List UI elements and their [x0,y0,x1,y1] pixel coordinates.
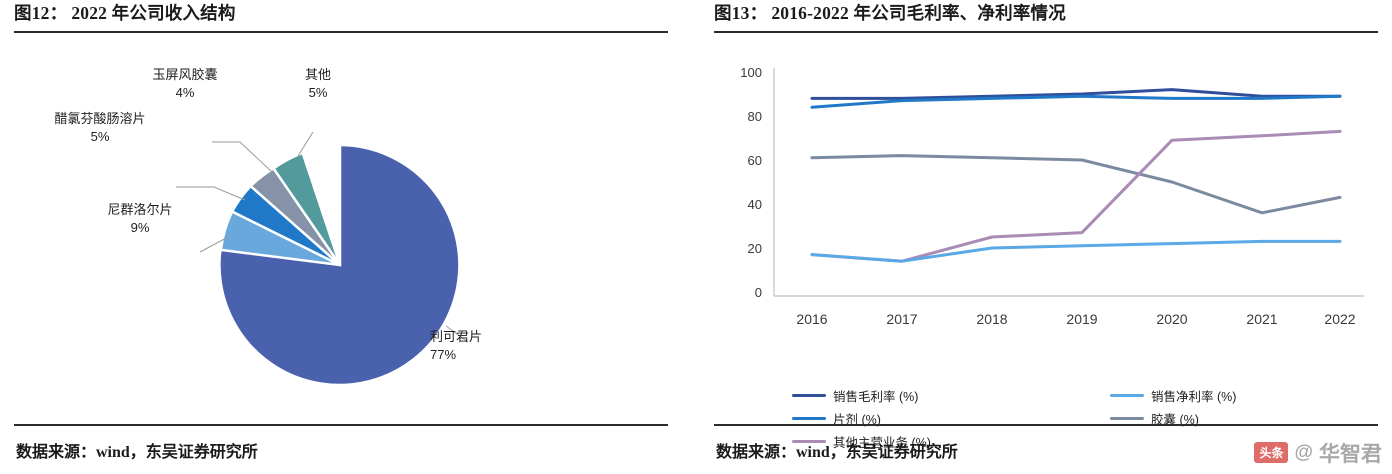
series-line-jiaonang [812,156,1340,213]
right-chart-title: 图13：2016-2022 年公司毛利率、净利率情况 [714,0,1378,31]
left-source-text: 数据来源：wind，东吴证券研究所 [16,438,258,462]
watermark-at: @ [1294,442,1313,464]
ytick-0: 0 [755,285,762,300]
xtick-2019: 2019 [1066,311,1097,327]
line-chart-area: 100 80 60 40 20 0 2016 2017 2018 2019 20… [700,42,1392,342]
line-series-group [812,90,1340,262]
pie-label-culufensuanchangrongpian: 醋氯芬酸肠溶片 5% [24,110,176,145]
right-title-line: 图13：2016-2022 年公司毛利率、净利率情况 [714,0,1378,25]
ytick-40: 40 [748,197,762,212]
xtick-2018: 2018 [976,311,1007,327]
pie-value-qita: 5% [288,84,348,102]
legend-label-jinglilv: 销售净利率 (%) [1151,386,1236,405]
pie-value-yupingfengjiaonang: 4% [118,84,252,102]
xtick-2021: 2021 [1246,311,1277,327]
ytick-20: 20 [748,241,762,256]
leader-line-qita [298,132,313,156]
legend-swatch-maolilv [792,394,826,397]
left-title-text: 2022 年公司收入结构 [71,3,235,23]
ytick-80: 80 [748,109,762,124]
leader-line-culufensuanchangrongpian [176,187,245,200]
legend-swatch-jinglilv [1110,394,1144,397]
legend-item-jinglilv[interactable]: 销售净利率 (%) [1110,386,1236,405]
panel-pie-chart: 图12：2022 年公司收入结构 [0,0,682,474]
left-title-line: 图12：2022 年公司收入结构 [14,0,668,25]
pie-label-qita: 其他 5% [288,66,348,101]
x-axis-ticklabels: 2016 2017 2018 2019 2020 2021 2022 [796,311,1355,327]
left-title-number: 图12： [14,3,67,23]
legend-row-1: 销售毛利率 (%) 销售净利率 (%) [720,386,1376,409]
pie-slices [219,145,459,385]
pie-chart-area: 利可君片 77% 尼群洛尔片 9% 醋氯芬酸肠溶片 5% 玉屏风胶囊 4% 其他… [0,40,682,390]
xtick-2022: 2022 [1324,311,1355,327]
xtick-2020: 2020 [1156,311,1187,327]
page-root: 图12：2022 年公司收入结构 [0,0,1392,474]
right-title-number: 图13： [714,3,767,23]
left-footer-rule [14,424,668,426]
legend-label-maolilv: 销售毛利率 (%) [833,386,918,405]
ytick-100: 100 [740,65,762,80]
right-footer-rule [714,424,1378,426]
left-title-rule [14,31,668,33]
watermark-badge: 头条 [1254,442,1288,463]
series-line-jinglilv [812,241,1340,261]
pie-value-niqunluoerpian: 9% [80,219,200,237]
left-chart-title: 图12：2022 年公司收入结构 [14,0,668,31]
legend-swatch-pianji [792,417,826,420]
legend-swatch-jiaonang [1110,417,1144,420]
pie-label-niqunluoerpian: 尼群洛尔片 9% [80,201,200,236]
watermark-text: 华智君 [1319,438,1382,468]
pie-value-likejunpian: 77% [430,346,482,364]
right-title-rule [714,31,1378,33]
right-title-text: 2016-2022 年公司毛利率、净利率情况 [771,3,1066,23]
ytick-60: 60 [748,153,762,168]
right-source-text: 数据来源：wind，东吴证券研究所 [716,438,958,462]
line-svg: 100 80 60 40 20 0 2016 2017 2018 2019 20… [700,42,1392,342]
pie-label-yupingfengjiaonang: 玉屏风胶囊 4% [118,66,252,101]
xtick-2016: 2016 [796,311,827,327]
xtick-2017: 2017 [886,311,917,327]
y-axis-ticklabels: 100 80 60 40 20 0 [740,65,762,300]
watermark: 头条 @ 华智君 [1254,438,1382,468]
leader-line-yupingfengjiaonang [212,142,272,172]
panel-line-chart: 图13：2016-2022 年公司毛利率、净利率情况 100 80 60 40 … [700,0,1392,474]
legend-item-maolilv[interactable]: 销售毛利率 (%) [792,386,918,405]
pie-label-likejunpian: 利可君片 77% [430,328,482,363]
pie-value-culufensuanchangrongpian: 5% [24,128,176,146]
legend-row-2: 片剂 (%) 胶囊 (%) [720,409,1376,432]
